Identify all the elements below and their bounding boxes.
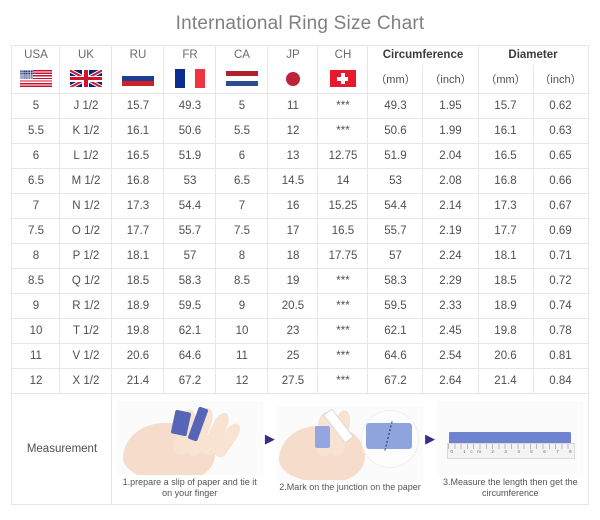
cell-uk: P 1/2	[60, 243, 112, 268]
step-1-caption: 1.prepare a slip of paper and tie it on …	[117, 477, 263, 500]
cell-diam-inch: 0.71	[533, 243, 588, 268]
cell-ru: 15.7	[112, 93, 164, 118]
cell-uk: M 1/2	[60, 168, 112, 193]
ring-size-table: USA UK RU FR CA JP CH Circumference Diam…	[11, 45, 588, 505]
cell-circ-inch: 2.14	[423, 193, 478, 218]
cell-diam-mm: 17.3	[478, 193, 533, 218]
cell-uk: X 1/2	[60, 368, 112, 393]
cell-diam-inch: 0.66	[533, 168, 588, 193]
cell-usa: 6.5	[12, 168, 60, 193]
cell-circ-inch: 2.64	[423, 368, 478, 393]
cell-ru: 18.1	[112, 243, 164, 268]
header-ca: CA	[216, 45, 268, 65]
cell-jp: 19	[268, 268, 318, 293]
table-row: 8.5Q 1/218.558.38.519***58.32.2918.50.72	[12, 268, 588, 293]
cell-uk: J 1/2	[60, 93, 112, 118]
cell-fr: 62.1	[164, 318, 216, 343]
cell-ch: ***	[318, 318, 368, 343]
cell-uk: V 1/2	[60, 343, 112, 368]
cell-ch: ***	[318, 343, 368, 368]
cell-ch: ***	[318, 368, 368, 393]
cell-diam-inch: 0.84	[533, 368, 588, 393]
step-2-caption: 2.Mark on the junction on the paper	[277, 482, 423, 493]
cell-fr: 67.2	[164, 368, 216, 393]
cell-ch: ***	[318, 93, 368, 118]
cell-ca: 8.5	[216, 268, 268, 293]
header-ru: RU	[112, 45, 164, 65]
header-uk: UK	[60, 45, 112, 65]
cell-ca: 8	[216, 243, 268, 268]
cell-jp: 20.5	[268, 293, 318, 318]
table-row: 12X 1/221.467.21227.5***67.22.6421.40.84	[12, 368, 588, 393]
flag-japan-icon	[278, 70, 308, 87]
cell-uk: T 1/2	[60, 318, 112, 343]
cell-usa: 8	[12, 243, 60, 268]
cell-fr: 53	[164, 168, 216, 193]
cell-diam-inch: 0.62	[533, 93, 588, 118]
cell-circ-mm: 51.9	[368, 143, 423, 168]
cell-circ-mm: 59.5	[368, 293, 423, 318]
cell-ch: ***	[318, 293, 368, 318]
header-row-flags-units: （mm） （inch） （mm） （inch）	[12, 65, 588, 94]
cell-diam-mm: 21.4	[478, 368, 533, 393]
flag-cell-ca	[216, 65, 268, 94]
step-3-illustration: 0 1cm 2 3 4 5 6 7 8	[437, 401, 583, 475]
cell-uk: N 1/2	[60, 193, 112, 218]
cell-ru: 21.4	[112, 368, 164, 393]
cell-diam-mm: 15.7	[478, 93, 533, 118]
table-row: 8P 1/218.15781817.75572.2418.10.71	[12, 243, 588, 268]
cell-diam-mm: 20.6	[478, 343, 533, 368]
cell-usa: 10	[12, 318, 60, 343]
measurement-step-1: 1.prepare a slip of paper and tie it on …	[116, 401, 262, 500]
cell-jp: 25	[268, 343, 318, 368]
step-1-illustration	[117, 401, 263, 475]
cell-ch: ***	[318, 268, 368, 293]
cell-circ-inch: 2.24	[423, 243, 478, 268]
cell-usa: 6	[12, 143, 60, 168]
cell-ch: 15.25	[318, 193, 368, 218]
step-arrow-1-icon: ▶	[263, 432, 277, 445]
header-row-countries: USA UK RU FR CA JP CH Circumference Diam…	[12, 45, 588, 65]
table-row: 11V 1/220.664.61125***64.62.5420.60.81	[12, 343, 588, 368]
cell-jp: 14.5	[268, 168, 318, 193]
cell-fr: 64.6	[164, 343, 216, 368]
cell-jp: 11	[268, 93, 318, 118]
table-row: 5J 1/215.749.3511***49.31.9515.70.62	[12, 93, 588, 118]
table-row: 6.5M 1/216.8536.514.514532.0816.80.66	[12, 168, 588, 193]
cell-diam-mm: 18.1	[478, 243, 533, 268]
cell-ch: 16.5	[318, 218, 368, 243]
cell-ca: 6	[216, 143, 268, 168]
cell-ru: 16.5	[112, 143, 164, 168]
cell-circ-inch: 2.19	[423, 218, 478, 243]
header-diameter: Diameter	[478, 45, 588, 65]
cell-diam-inch: 0.65	[533, 143, 588, 168]
cell-diam-mm: 16.8	[478, 168, 533, 193]
cell-circ-mm: 64.6	[368, 343, 423, 368]
unit-circumference-inch: （inch）	[423, 65, 478, 94]
cell-jp: 27.5	[268, 368, 318, 393]
ring-size-chart-page: International Ring Size Chart USA UK RU …	[0, 0, 600, 520]
unit-circumference-mm: （mm）	[368, 65, 423, 94]
cell-fr: 50.6	[164, 118, 216, 143]
cell-ch: 12.75	[318, 143, 368, 168]
step-arrow-2-icon: ▶	[423, 432, 437, 445]
cell-circ-inch: 2.54	[423, 343, 478, 368]
measurement-label: Measurement	[12, 393, 112, 504]
table-row: 7N 1/217.354.471615.2554.42.1417.30.67	[12, 193, 588, 218]
cell-diam-mm: 17.7	[478, 218, 533, 243]
cell-diam-mm: 18.9	[478, 293, 533, 318]
cell-ch: ***	[318, 118, 368, 143]
measurement-step-2: 2.Mark on the junction on the paper	[277, 406, 423, 493]
step-3-caption: 3.Measure the length then get the circum…	[437, 477, 583, 500]
header-circumference: Circumference	[368, 45, 478, 65]
cell-ru: 17.3	[112, 193, 164, 218]
flag-switzerland-icon	[330, 70, 356, 87]
flag-cell-ru	[112, 65, 164, 94]
cell-circ-inch: 2.04	[423, 143, 478, 168]
flag-france-icon	[175, 69, 205, 88]
cell-ru: 17.7	[112, 218, 164, 243]
cell-usa: 7.5	[12, 218, 60, 243]
cell-diam-mm: 19.8	[478, 318, 533, 343]
cell-circ-inch: 1.99	[423, 118, 478, 143]
cell-circ-mm: 54.4	[368, 193, 423, 218]
cell-fr: 57	[164, 243, 216, 268]
table-row: 10T 1/219.862.11023***62.12.4519.80.78	[12, 318, 588, 343]
cell-circ-mm: 50.6	[368, 118, 423, 143]
cell-circ-mm: 58.3	[368, 268, 423, 293]
flag-russia-icon	[122, 71, 154, 86]
measurement-steps-cell: 1.prepare a slip of paper and tie it on …	[112, 393, 588, 504]
cell-diam-inch: 0.69	[533, 218, 588, 243]
cell-circ-mm: 53	[368, 168, 423, 193]
cell-diam-inch: 0.74	[533, 293, 588, 318]
cell-circ-mm: 62.1	[368, 318, 423, 343]
cell-diam-inch: 0.72	[533, 268, 588, 293]
cell-diam-mm: 16.1	[478, 118, 533, 143]
table-row: 7.5O 1/217.755.77.51716.555.72.1917.70.6…	[12, 218, 588, 243]
flag-canada-icon	[226, 71, 258, 86]
cell-fr: 55.7	[164, 218, 216, 243]
cell-fr: 51.9	[164, 143, 216, 168]
unit-diameter-inch: （inch）	[533, 65, 588, 94]
cell-uk: K 1/2	[60, 118, 112, 143]
cell-uk: L 1/2	[60, 143, 112, 168]
cell-ch: 17.75	[318, 243, 368, 268]
header-jp: JP	[268, 45, 318, 65]
header-ch: CH	[318, 45, 368, 65]
cell-ca: 7.5	[216, 218, 268, 243]
cell-circ-inch: 2.29	[423, 268, 478, 293]
cell-usa: 8.5	[12, 268, 60, 293]
cell-circ-inch: 2.08	[423, 168, 478, 193]
step-2-illustration	[277, 406, 423, 480]
cell-fr: 49.3	[164, 93, 216, 118]
cell-ru: 16.8	[112, 168, 164, 193]
cell-circ-mm: 49.3	[368, 93, 423, 118]
ring-size-table-body: 5J 1/215.749.3511***49.31.9515.70.625.5K…	[12, 93, 588, 393]
cell-circ-mm: 57	[368, 243, 423, 268]
cell-usa: 12	[12, 368, 60, 393]
cell-uk: R 1/2	[60, 293, 112, 318]
cell-circ-mm: 55.7	[368, 218, 423, 243]
cell-usa: 5.5	[12, 118, 60, 143]
cell-ca: 11	[216, 343, 268, 368]
cell-jp: 23	[268, 318, 318, 343]
flag-uk-icon	[70, 70, 102, 87]
ruler-icon: 0 1cm 2 3 4 5 6 7 8	[447, 443, 575, 459]
measurement-step-3: 0 1cm 2 3 4 5 6 7 8 3.Measure the length…	[437, 401, 583, 500]
cell-diam-mm: 16.5	[478, 143, 533, 168]
cell-jp: 12	[268, 118, 318, 143]
page-title: International Ring Size Chart	[0, 0, 600, 45]
cell-uk: O 1/2	[60, 218, 112, 243]
cell-diam-inch: 0.78	[533, 318, 588, 343]
flag-cell-uk	[60, 65, 112, 94]
flag-usa-icon	[20, 70, 52, 87]
cell-fr: 54.4	[164, 193, 216, 218]
header-fr: FR	[164, 45, 216, 65]
cell-circ-inch: 1.95	[423, 93, 478, 118]
cell-usa: 5	[12, 93, 60, 118]
flag-cell-fr	[164, 65, 216, 94]
cell-usa: 11	[12, 343, 60, 368]
cell-ru: 18.9	[112, 293, 164, 318]
cell-ca: 6.5	[216, 168, 268, 193]
cell-diam-inch: 0.67	[533, 193, 588, 218]
cell-ch: 14	[318, 168, 368, 193]
cell-usa: 7	[12, 193, 60, 218]
cell-diam-inch: 0.63	[533, 118, 588, 143]
cell-ca: 5.5	[216, 118, 268, 143]
cell-ru: 20.6	[112, 343, 164, 368]
cell-usa: 9	[12, 293, 60, 318]
cell-circ-inch: 2.33	[423, 293, 478, 318]
cell-jp: 13	[268, 143, 318, 168]
cell-diam-inch: 0.81	[533, 343, 588, 368]
cell-ru: 16.1	[112, 118, 164, 143]
flag-cell-jp	[268, 65, 318, 94]
measurement-row: Measurement	[12, 393, 588, 504]
cell-ca: 7	[216, 193, 268, 218]
header-usa: USA	[12, 45, 60, 65]
table-row: 6L 1/216.551.961312.7551.92.0416.50.65	[12, 143, 588, 168]
table-row: 5.5K 1/216.150.65.512***50.61.9916.10.63	[12, 118, 588, 143]
table-row: 9R 1/218.959.5920.5***59.52.3318.90.74	[12, 293, 588, 318]
cell-ca: 12	[216, 368, 268, 393]
cell-ru: 18.5	[112, 268, 164, 293]
cell-ca: 10	[216, 318, 268, 343]
unit-diameter-mm: （mm）	[478, 65, 533, 94]
cell-circ-mm: 67.2	[368, 368, 423, 393]
cell-jp: 16	[268, 193, 318, 218]
cell-ca: 5	[216, 93, 268, 118]
cell-diam-mm: 18.5	[478, 268, 533, 293]
cell-jp: 17	[268, 218, 318, 243]
cell-ru: 19.8	[112, 318, 164, 343]
cell-circ-inch: 2.45	[423, 318, 478, 343]
cell-fr: 59.5	[164, 293, 216, 318]
cell-jp: 18	[268, 243, 318, 268]
cell-uk: Q 1/2	[60, 268, 112, 293]
flag-cell-usa	[12, 65, 60, 94]
ruler-numbers: 0 1cm 2 3 4 5 6 7 8	[450, 449, 576, 454]
cell-fr: 58.3	[164, 268, 216, 293]
cell-ca: 9	[216, 293, 268, 318]
flag-cell-ch	[318, 65, 368, 94]
